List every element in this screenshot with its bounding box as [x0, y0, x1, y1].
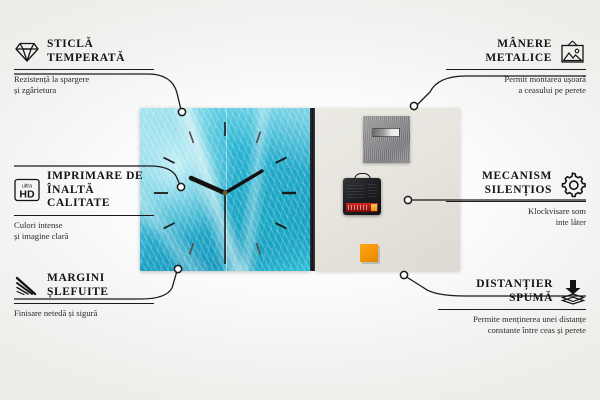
- battery: [346, 203, 378, 212]
- callout-tempered-glass: STICLĂ TEMPERATĂ Rezistență la spargere …: [14, 38, 154, 96]
- battery-label: [348, 205, 368, 210]
- callout-rule: [446, 69, 586, 70]
- callout-polished-edges: MARGINI ȘLEFUITE Finisare netedă și sigu…: [14, 272, 154, 319]
- callout-title: DISTANȚIER SPUMĂ: [476, 278, 553, 305]
- callout-head: DISTANȚIER SPUMĂ: [438, 278, 586, 305]
- callout-rule: [438, 309, 586, 310]
- mechanism-ridge-left: [347, 184, 364, 198]
- callout-sub-1: Culori intense: [14, 220, 154, 231]
- infographic-canvas: STICLĂ TEMPERATĂ Rezistență la spargere …: [0, 0, 600, 400]
- callout-rule: [446, 201, 586, 202]
- hanger-slot: [372, 128, 400, 137]
- callout-head: MECANISM SILENȚIOS: [446, 170, 586, 197]
- callout-title: MARGINI ȘLEFUITE: [47, 272, 109, 299]
- callout-title: MÂNERE METALICE: [485, 38, 552, 65]
- foam-spacer: [360, 244, 378, 262]
- callout-sub-2: inte låter: [446, 217, 586, 228]
- callout-sub-2: și zgârietura: [14, 85, 154, 96]
- callout-sub-2: constante între ceas și perete: [438, 325, 586, 336]
- callout-head: STICLĂ TEMPERATĂ: [14, 38, 154, 65]
- callout-rule: [14, 69, 154, 70]
- hanging-picture-icon: [559, 40, 586, 64]
- callout-sub-1: Permite menținerea unei distanțe: [438, 314, 586, 325]
- callout-sub-1: Klockvisare som: [446, 206, 586, 217]
- callout-high-quality-print: ultra HD IMPRIMARE DE ÎNALTĂ CALITATE Cu…: [14, 170, 154, 242]
- connector-dot-spacer: [400, 271, 407, 278]
- product-image: [140, 108, 460, 271]
- clock-center-cap: [223, 191, 228, 196]
- callout-metal-handles: MÂNERE METALICE Permit montarea ușoară a…: [446, 38, 586, 96]
- clock-face: [140, 108, 310, 271]
- callout-head: MARGINI ȘLEFUITE: [14, 272, 154, 299]
- callout-head: MÂNERE METALICE: [446, 38, 586, 65]
- callout-sub-1: Permit montarea ușoară: [446, 74, 586, 85]
- ultra-hd-icon: ultra HD: [14, 178, 40, 202]
- callout-silent-mechanism: MECANISM SILENȚIOS Klockvisare som inte …: [446, 170, 586, 228]
- callout-foam-spacer: DISTANȚIER SPUMĂ Permite menținerea unei…: [438, 278, 586, 336]
- mechanism-ridge-right: [368, 184, 377, 197]
- callout-head: ultra HD IMPRIMARE DE ÎNALTĂ CALITATE: [14, 170, 154, 211]
- svg-text:HD: HD: [19, 189, 35, 201]
- callout-sub-2: și imagine clară: [14, 231, 154, 242]
- polished-edges-icon: [14, 275, 40, 297]
- callout-title: IMPRIMARE DE ÎNALTĂ CALITATE: [47, 170, 154, 211]
- gear-icon: [559, 171, 586, 197]
- callout-rule: [14, 303, 154, 304]
- parts-panel: [315, 108, 460, 271]
- callout-title: STICLĂ TEMPERATĂ: [47, 38, 125, 65]
- callout-title: MECANISM SILENȚIOS: [482, 170, 552, 197]
- metal-hanger-plate: [363, 116, 410, 163]
- callout-sub-1: Rezistență la spargere: [14, 74, 154, 85]
- callout-sub-2: a ceasului pe perete: [446, 85, 586, 96]
- callout-rule: [14, 215, 154, 216]
- clock-mechanism: [343, 173, 381, 215]
- diamond-icon: [14, 41, 40, 63]
- mechanism-body: [343, 178, 381, 215]
- battery-terminal: [371, 204, 377, 211]
- clock-minute-hand: [225, 171, 262, 193]
- clock-hour-hand: [191, 178, 225, 193]
- glass-edge: [310, 108, 315, 271]
- callout-sub-1: Finisare netedă și sigură: [14, 308, 154, 319]
- spacer-arrow-icon: [560, 279, 586, 304]
